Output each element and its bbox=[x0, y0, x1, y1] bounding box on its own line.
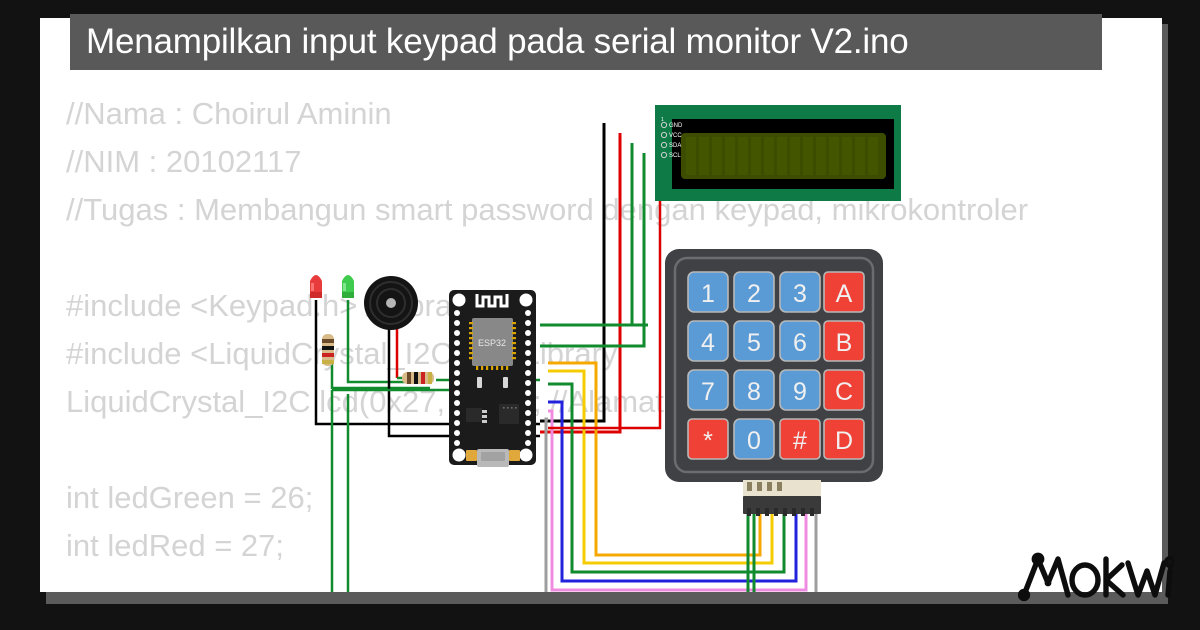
code-line: #include <Keypad.h> //Library bbox=[66, 282, 1162, 330]
code-line: //NIM : 20102117 bbox=[66, 138, 1162, 186]
code-line: //Nama : Choirul Aminin bbox=[66, 90, 1162, 138]
code-preview: //Nama : Choirul Aminin //NIM : 20102117… bbox=[40, 18, 1162, 592]
code-line: int ledGreen = 26; bbox=[66, 474, 1162, 522]
code-line bbox=[66, 234, 1162, 282]
code-line: LiquidCrystal_I2C lcd(0x27, 16, 2); //Al… bbox=[66, 378, 1162, 426]
code-line: //Tugas : Membangun smart password denga… bbox=[66, 186, 1162, 234]
code-line bbox=[66, 426, 1162, 474]
project-title-bar: Menampilkan input keypad pada serial mon… bbox=[70, 14, 1102, 70]
wokwi-logo bbox=[1018, 549, 1174, 608]
code-line: int ledRed = 27; bbox=[66, 522, 1162, 570]
card-white-panel: //Nama : Choirul Aminin //NIM : 20102117… bbox=[40, 18, 1162, 592]
code-line: #include <LiquidCrystal_I2C.h> //Library bbox=[66, 330, 1162, 378]
page-title: Menampilkan input keypad pada serial mon… bbox=[86, 22, 909, 62]
